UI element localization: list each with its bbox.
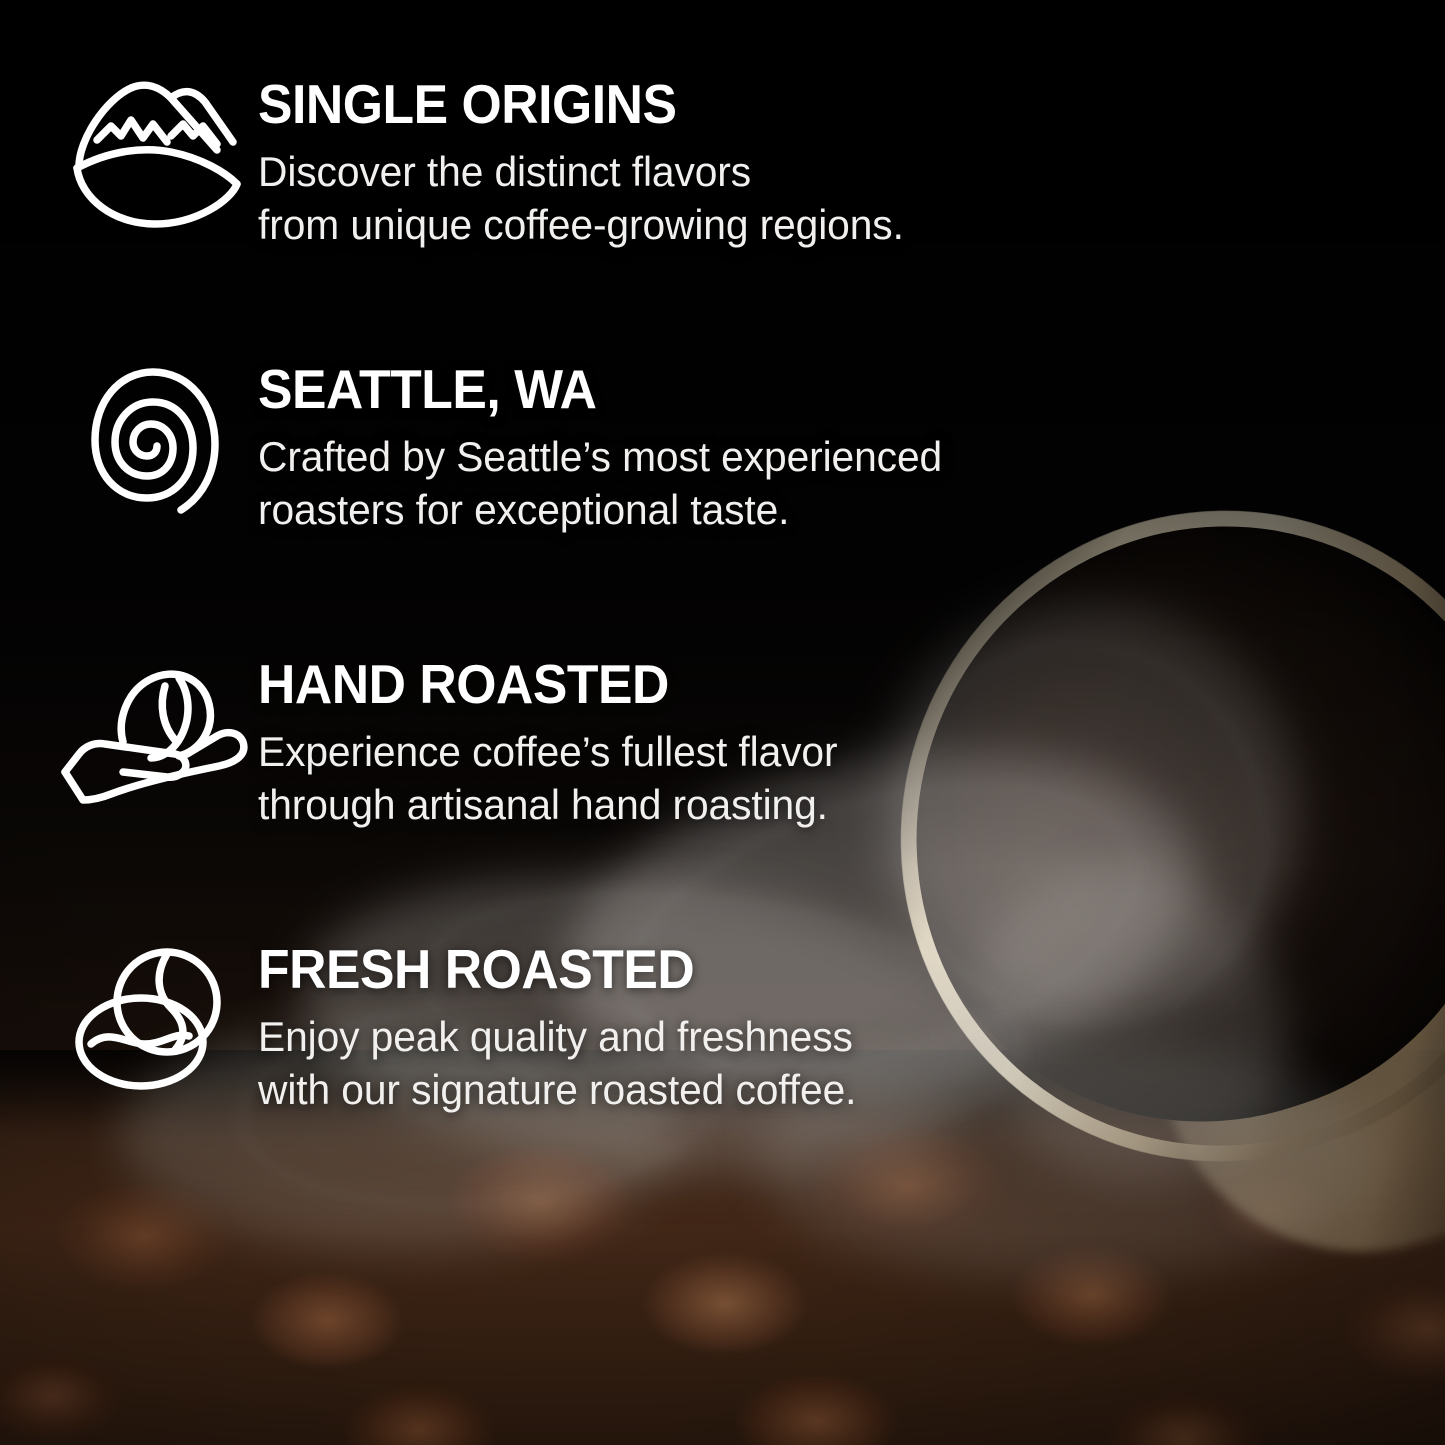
feature-title: FRESH ROASTED	[258, 941, 838, 997]
hand-holding-bean-icon	[52, 652, 258, 817]
feature-text-block: HAND ROASTED Experience coffee’s fullest…	[258, 652, 855, 832]
two-beans-icon	[52, 937, 258, 1102]
mountain-bean-icon	[52, 72, 258, 237]
feature-item-hand-roasted: HAND ROASTED Experience coffee’s fullest…	[52, 652, 1152, 832]
feature-description: Experience coffee’s fullest flavor throu…	[258, 726, 837, 832]
feature-description: Discover the distinct flavors from uniqu…	[258, 146, 904, 252]
feature-item-single-origins: SINGLE ORIGINS Discover the distinct fla…	[52, 72, 1152, 252]
feature-description: Crafted by Seattle’s most experienced ro…	[258, 431, 942, 537]
feature-text-block: SINGLE ORIGINS Discover the distinct fla…	[258, 72, 924, 252]
feature-item-fresh-roasted: FRESH ROASTED Enjoy peak quality and fre…	[52, 937, 1152, 1117]
feature-list: SINGLE ORIGINS Discover the distinct fla…	[0, 0, 1445, 1445]
feature-text-block: FRESH ROASTED Enjoy peak quality and fre…	[258, 937, 875, 1117]
feature-title: HAND ROASTED	[258, 656, 820, 712]
feature-title: SEATTLE, WA	[258, 361, 921, 417]
feature-title: SINGLE ORIGINS	[258, 76, 884, 132]
infographic-canvas: SINGLE ORIGINS Discover the distinct fla…	[0, 0, 1445, 1445]
feature-description: Enjoy peak quality and freshness with ou…	[258, 1011, 856, 1117]
feature-item-seattle-wa: SEATTLE, WA Crafted by Seattle’s most ex…	[52, 357, 1152, 537]
fingerprint-icon	[52, 357, 258, 522]
feature-text-block: SEATTLE, WA Crafted by Seattle’s most ex…	[258, 357, 963, 537]
